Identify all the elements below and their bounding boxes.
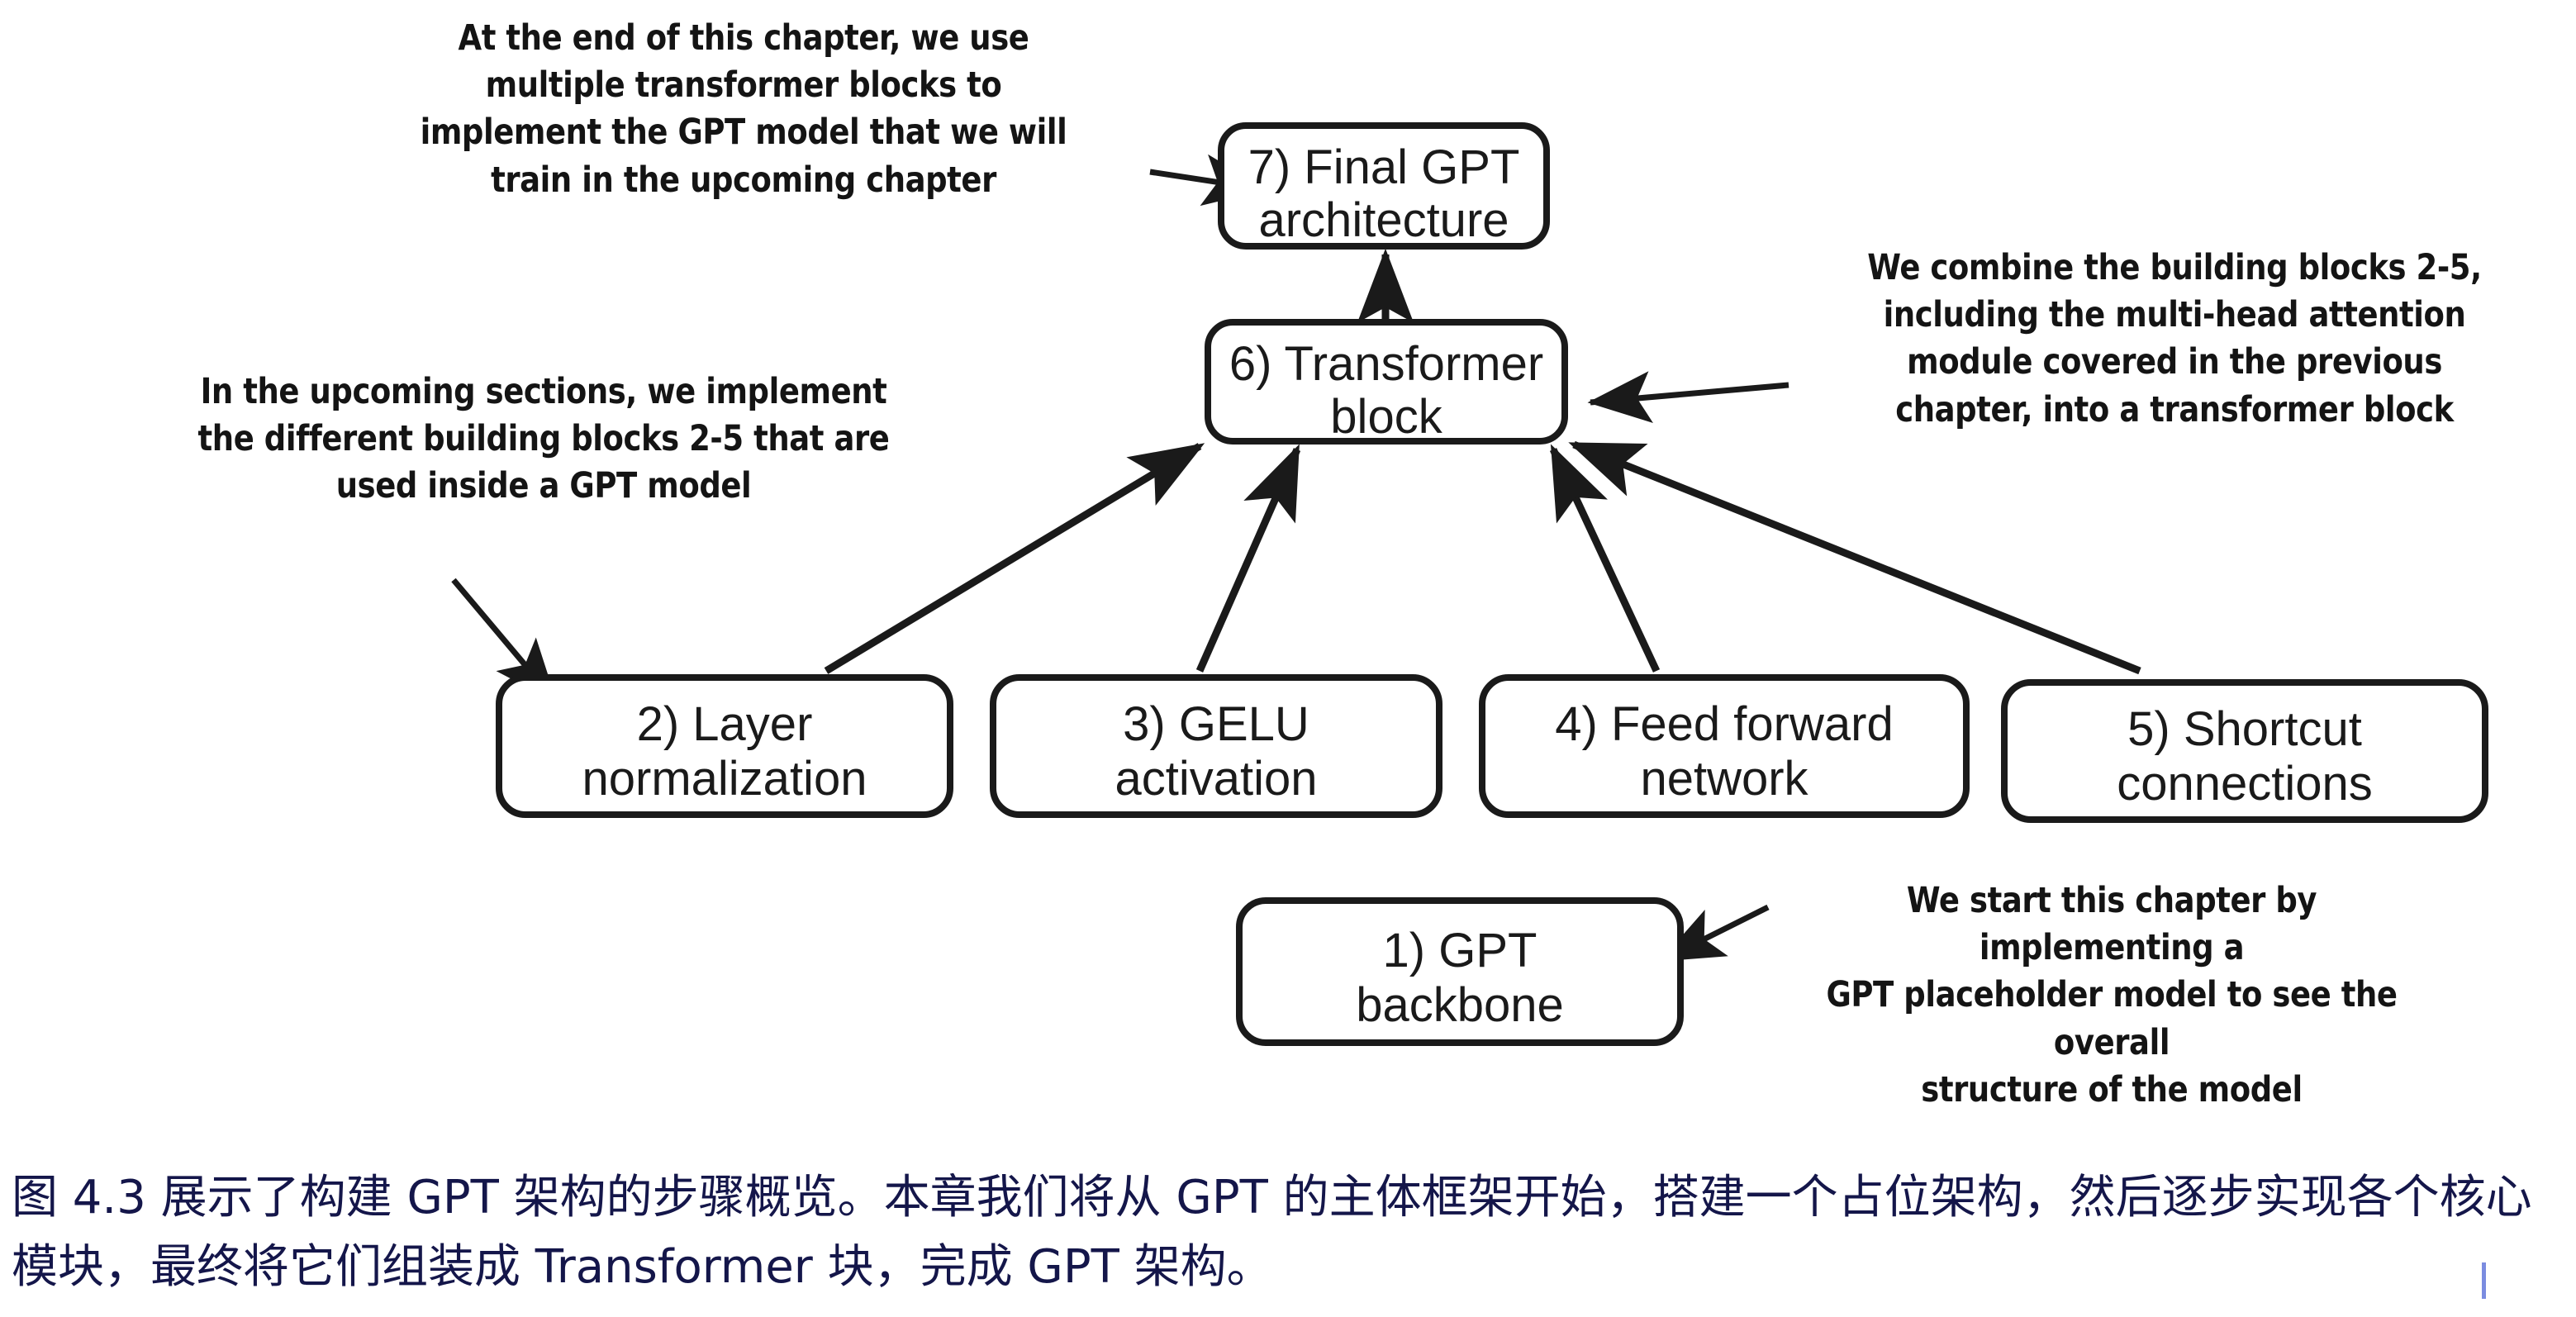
leader-right-annotation xyxy=(1590,385,1789,402)
box-shortcut-connections-line2: connections xyxy=(2117,757,2373,811)
box-shortcut-connections-line1: 5) Shortcut xyxy=(2127,702,2362,756)
arrow-gelu-to-transformer xyxy=(1200,449,1297,671)
box-gelu-activation-line2: activation xyxy=(1115,752,1317,806)
box-layer-normalization-line1: 2) Layer xyxy=(637,697,813,751)
box-shortcut-connections[interactable]: 5) Shortcut connections xyxy=(2004,682,2485,820)
arrow-feedforward-to-transformer xyxy=(1553,449,1656,671)
box-feed-forward-network[interactable]: 4) Feed forward network xyxy=(1482,678,1966,815)
box-final-gpt-architecture[interactable]: 7) Final GPT architecture xyxy=(1221,126,1547,247)
box-gpt-backbone[interactable]: 1) GPT backbone xyxy=(1239,901,1680,1043)
arrow-shortcut-to-transformer xyxy=(1574,445,2140,671)
annotation-building-blocks: In the upcoming sections, we implementth… xyxy=(181,368,905,511)
box-feed-forward-network-line2: network xyxy=(1640,752,1808,806)
box-layer-normalization[interactable]: 2) Layer normalization xyxy=(499,678,950,815)
box-transformer-block-line1: 6) Transformer xyxy=(1229,337,1543,391)
box-gelu-activation[interactable]: 3) GELU activation xyxy=(993,678,1439,815)
annotation-transformer-block: We combine the building blocks 2-5,inclu… xyxy=(1819,245,2530,434)
box-gpt-backbone-line2: backbone xyxy=(1356,978,1564,1032)
box-feed-forward-network-line1: 4) Feed forward xyxy=(1555,697,1893,751)
box-final-gpt-architecture-line2: architecture xyxy=(1258,193,1509,247)
text-cursor xyxy=(2482,1262,2486,1299)
box-transformer-block[interactable]: 6) Transformer block xyxy=(1208,322,1565,444)
annotation-gpt-placeholder: We start this chapter by implementing aG… xyxy=(1785,877,2438,1114)
figure-caption: 图 4.3 展示了构建 GPT 架构的步骤概览。本章我们将从 GPT 的主体框架… xyxy=(12,1163,2540,1302)
annotation-final-architecture: At the end of this chapter, we usemultip… xyxy=(381,15,1105,204)
box-gelu-activation-line1: 3) GELU xyxy=(1123,697,1309,751)
box-gpt-backbone-line1: 1) GPT xyxy=(1383,924,1538,977)
figure-page: 7) Final GPT architecture 6) Transformer… xyxy=(0,0,2576,1317)
box-layer-normalization-line2: normalization xyxy=(582,752,867,806)
box-transformer-block-line2: block xyxy=(1330,390,1442,444)
box-final-gpt-architecture-line1: 7) Final GPT xyxy=(1248,140,1520,194)
